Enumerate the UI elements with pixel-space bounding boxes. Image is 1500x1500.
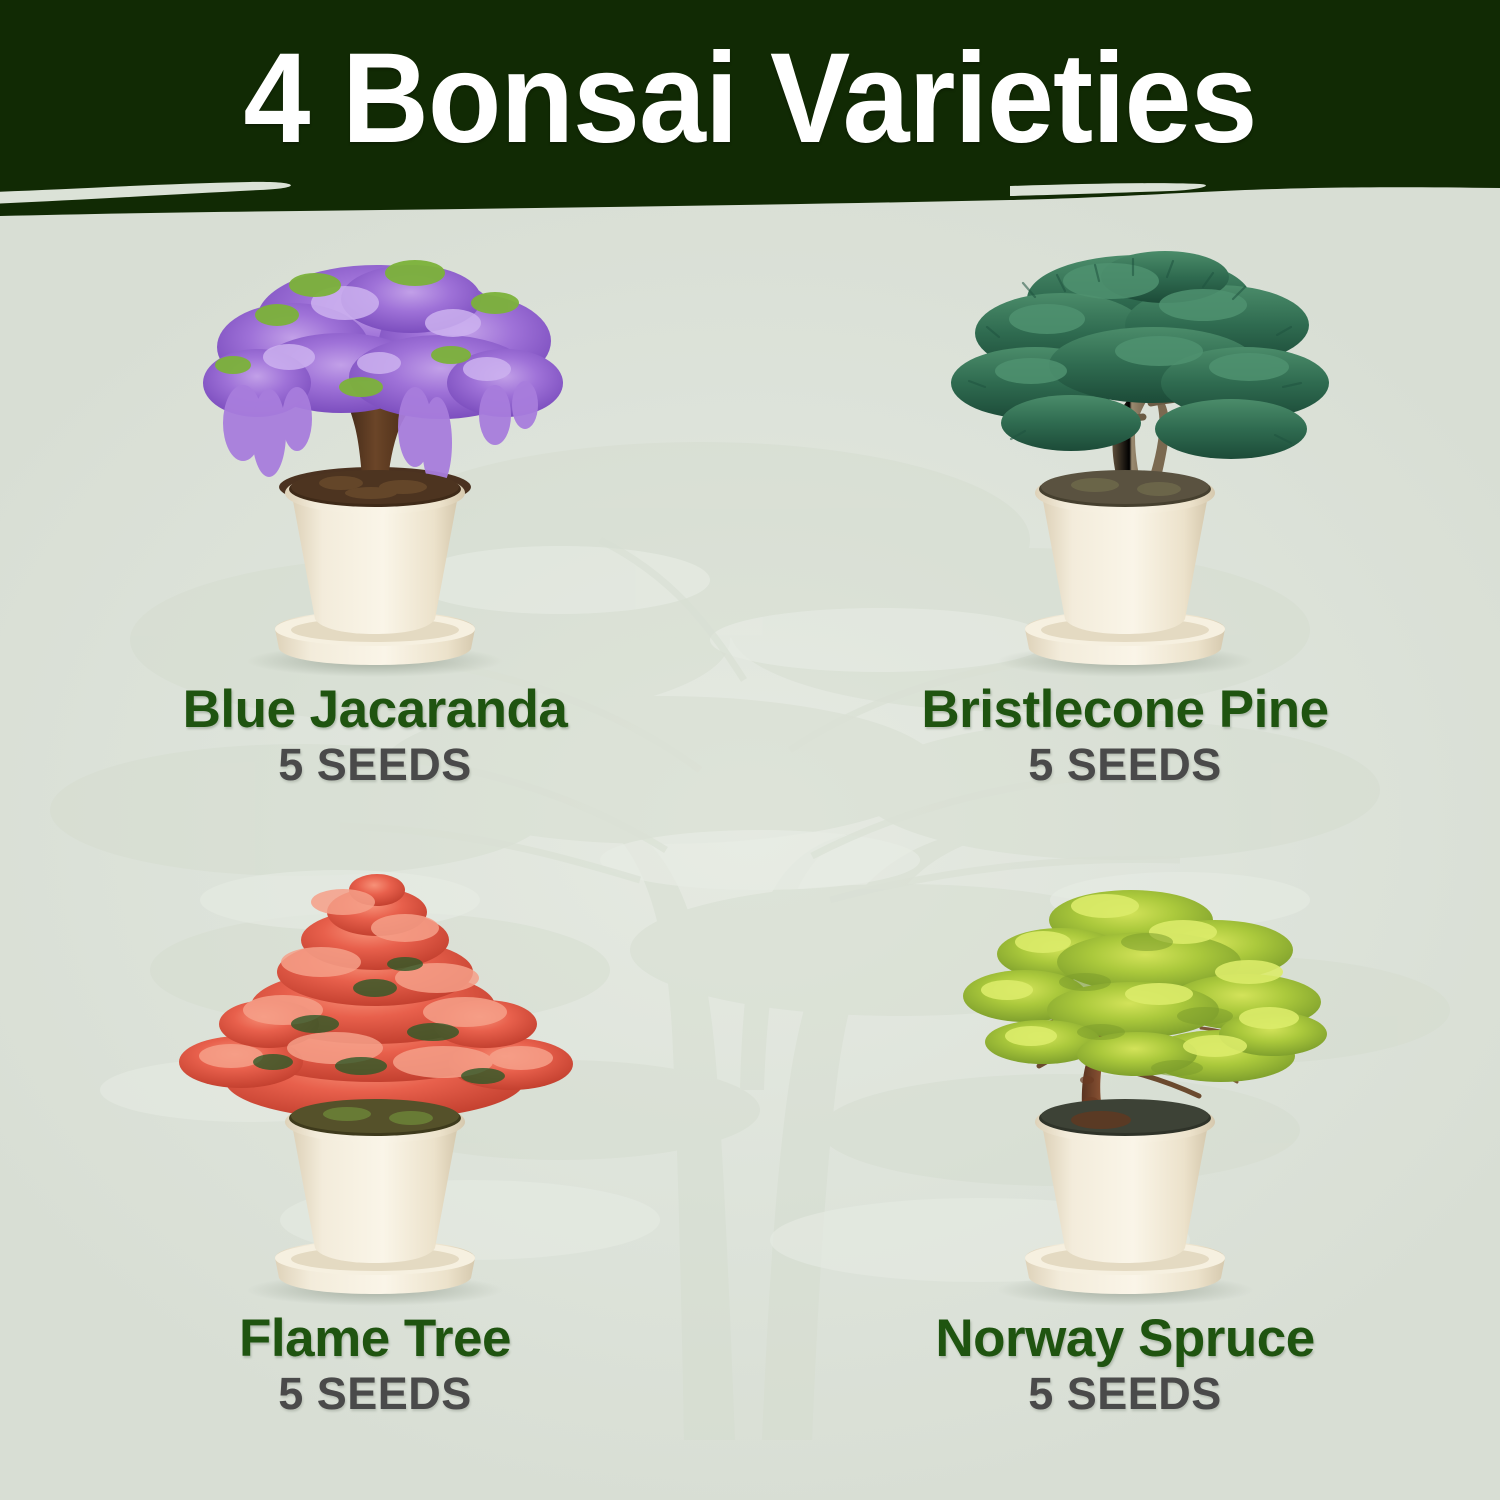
variety-card-norway-spruce[interactable]: Norway Spruce 5 SEEDS: [750, 861, 1500, 1500]
variety-grid: Blue Jacaranda 5 SEEDS: [0, 222, 1500, 1500]
header-banner: 4 Bonsai Varieties: [0, 0, 1500, 222]
seed-count: 5 SEEDS: [239, 1369, 511, 1419]
variety-caption: Flame Tree 5 SEEDS: [239, 1310, 511, 1420]
variety-card-bristlecone-pine[interactable]: Bristlecone Pine 5 SEEDS: [750, 222, 1500, 861]
infographic-page: 4 Bonsai Varieties: [0, 0, 1500, 1500]
variety-caption: Norway Spruce 5 SEEDS: [935, 1310, 1314, 1420]
variety-card-blue-jacaranda[interactable]: Blue Jacaranda 5 SEEDS: [0, 222, 750, 861]
norway-spruce-bonsai-image: [915, 866, 1335, 1306]
variety-caption: Blue Jacaranda 5 SEEDS: [183, 681, 568, 791]
plant-image-wrap: [0, 222, 750, 677]
variety-name: Blue Jacaranda: [183, 681, 568, 738]
bristlecone-pine-bonsai-image: [915, 237, 1335, 677]
seed-count: 5 SEEDS: [921, 740, 1328, 790]
plant-image-wrap: [750, 861, 1500, 1306]
flame-tree-bonsai-image: [165, 866, 585, 1306]
seed-count: 5 SEEDS: [183, 740, 568, 790]
variety-card-flame-tree[interactable]: Flame Tree 5 SEEDS: [0, 861, 750, 1500]
variety-name: Bristlecone Pine: [921, 681, 1328, 738]
plant-image-wrap: [750, 222, 1500, 677]
jacaranda-bonsai-image: [165, 237, 585, 677]
variety-name: Norway Spruce: [935, 1310, 1314, 1367]
plant-image-wrap: [0, 861, 750, 1306]
page-title: 4 Bonsai Varieties: [45, 0, 1455, 196]
variety-caption: Bristlecone Pine 5 SEEDS: [921, 681, 1328, 791]
variety-name: Flame Tree: [239, 1310, 511, 1367]
seed-count: 5 SEEDS: [935, 1369, 1314, 1419]
